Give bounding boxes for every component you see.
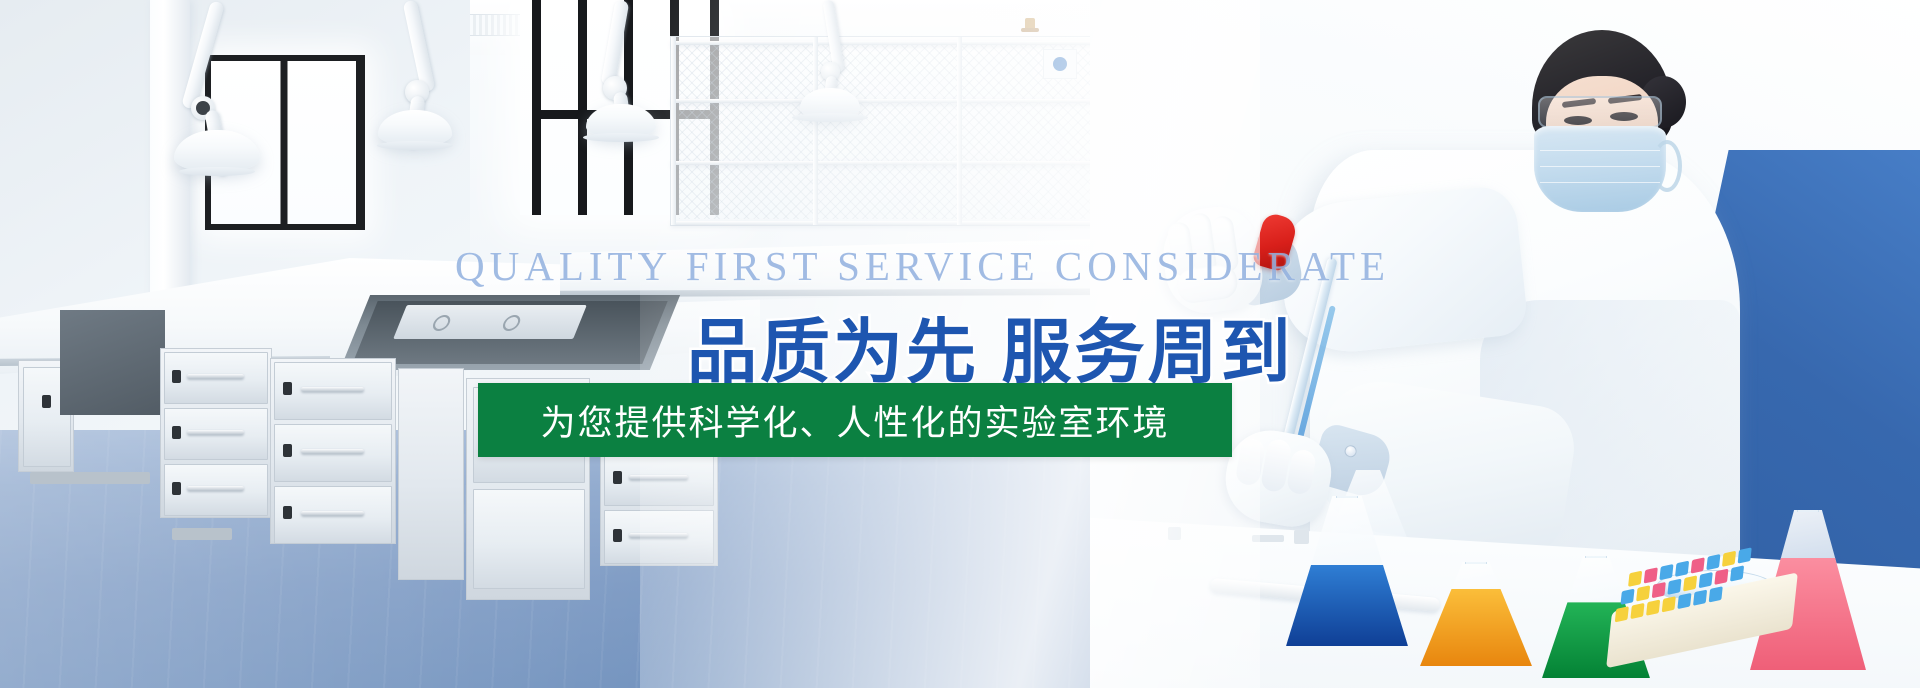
headline: 品质为先 服务周到 — [687, 296, 1245, 397]
window-mullion — [280, 61, 287, 224]
lock-icon — [283, 506, 292, 519]
shelf-rail — [671, 99, 1099, 103]
drawer — [164, 408, 268, 460]
english-tagline: QUALITY FIRST SERVICE CONSIDERATE — [455, 242, 1245, 290]
drawer — [274, 362, 392, 420]
pipette-tip — [1644, 567, 1658, 583]
subheadline-text: 为您提供科学化、人性化的实验室环境 — [540, 395, 1169, 446]
pipette-tip — [1706, 554, 1720, 570]
lock-icon — [283, 382, 292, 395]
cabinet-door — [473, 489, 585, 589]
lock-icon — [172, 426, 181, 439]
mask-pleat — [1540, 150, 1660, 151]
small-component — [1252, 535, 1284, 542]
drawer-handle[interactable] — [187, 430, 243, 435]
pipette-tip — [1636, 585, 1650, 601]
pipette-tip — [1683, 575, 1697, 591]
promo-banner: QUALITY FIRST SERVICE CONSIDERATE 品质为先 服… — [0, 0, 1920, 688]
pipette-tip — [1659, 564, 1673, 580]
banner-text-block: QUALITY FIRST SERVICE CONSIDERATE 品质为先 服… — [455, 242, 1245, 397]
pipette-tip — [1667, 579, 1681, 595]
head — [1520, 30, 1680, 230]
under-bench-unit — [60, 310, 165, 415]
small-component — [1168, 527, 1181, 540]
pipette-tip — [1714, 569, 1728, 585]
pipette-tip — [1675, 561, 1689, 577]
drawer-handle[interactable] — [629, 533, 688, 538]
shelf-rail — [671, 161, 1099, 165]
window-bar — [532, 0, 541, 215]
pipette-tip — [1722, 551, 1736, 567]
lock-icon — [172, 482, 181, 495]
brand-badge-icon — [1043, 49, 1077, 79]
drawer — [604, 452, 714, 506]
drawer-handle[interactable] — [629, 475, 688, 480]
drawer — [604, 510, 714, 564]
drawer — [274, 424, 392, 482]
pipette-tip — [1628, 571, 1642, 587]
lock-icon — [613, 471, 622, 484]
small-component — [1294, 530, 1309, 544]
cabinet-unit — [398, 368, 464, 580]
glove-finger — [1286, 448, 1317, 495]
window-bar — [578, 0, 587, 215]
mask-pleat — [1540, 182, 1660, 183]
shelf-rail — [671, 221, 1099, 225]
toe-kick — [172, 528, 232, 540]
drawer-handle[interactable] — [301, 449, 365, 454]
mask-ear-loop — [1652, 140, 1682, 192]
pipette-tip — [1691, 557, 1705, 573]
shelf-rail — [671, 41, 1099, 45]
drawer-handle[interactable] — [301, 387, 365, 392]
sink-ring-icon — [430, 315, 452, 331]
drawer-handle[interactable] — [187, 374, 243, 379]
researcher-figure — [1160, 0, 1860, 620]
shelf-post — [813, 37, 818, 225]
lock-icon — [42, 395, 51, 408]
pipette-tip — [1699, 572, 1713, 588]
cuff-button — [1343, 444, 1358, 459]
toe-kick — [30, 472, 150, 484]
surgical-mask — [1534, 126, 1666, 212]
drawer — [274, 486, 392, 544]
drawer-handle[interactable] — [187, 486, 243, 491]
lock-icon — [172, 370, 181, 383]
fire-sprinkler-icon — [1025, 18, 1035, 32]
mask-pleat — [1540, 166, 1660, 167]
shelf-post — [957, 37, 962, 225]
shelf-mesh — [679, 43, 1091, 219]
drawer — [164, 464, 268, 516]
shelf-post — [671, 37, 676, 225]
lock-icon — [283, 444, 292, 457]
shelving-unit — [670, 36, 1100, 226]
pipette-tip — [1652, 582, 1666, 598]
drawer-handle[interactable] — [301, 511, 365, 516]
pipette-tip — [1620, 589, 1634, 605]
subheadline-bar: 为您提供科学化、人性化的实验室环境 — [478, 383, 1232, 457]
pipette-tip — [1738, 547, 1752, 563]
pipette-tip — [1730, 565, 1744, 581]
safety-glasses — [1538, 96, 1662, 128]
drawer — [164, 352, 268, 404]
lock-icon — [613, 529, 622, 542]
